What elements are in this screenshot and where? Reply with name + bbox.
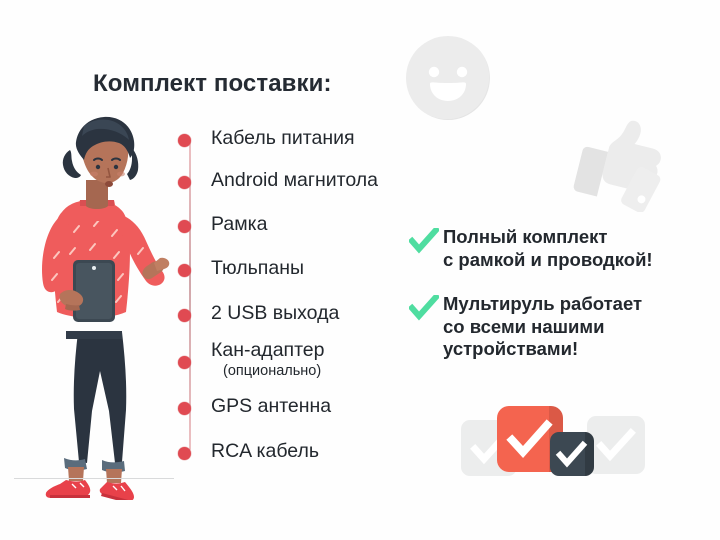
benefit-text: Полный комплект с рамкой и проводкой!: [443, 226, 653, 271]
thumbs-up-icon: [572, 112, 676, 212]
bullet-dot: [178, 134, 191, 147]
slide-canvas: Комплект поставки: Кабель питания Androi…: [0, 0, 720, 540]
check-icon: [409, 295, 439, 321]
list-item: Android магнитола: [178, 170, 378, 192]
list-item-label: GPS антенна: [211, 396, 331, 418]
benefit-item: Полный комплект с рамкой и проводкой!: [409, 226, 699, 271]
list-item: RCA кабель: [178, 441, 319, 463]
woman-pointing-illustration: [14, 108, 182, 500]
list-item: Кабель питания: [178, 128, 355, 150]
checkbox-card-gray-right: [587, 416, 645, 474]
benefit-text: Мультируль работает со всеми нашими устр…: [443, 293, 642, 361]
list-item-label: Тюльпаны: [211, 258, 304, 280]
list-item: Тюльпаны: [178, 258, 304, 280]
bullet-dot: [178, 309, 191, 322]
list-item-label: Кабель питания: [211, 128, 355, 150]
benefits-list: Полный комплект с рамкой и проводкой! Му…: [409, 226, 699, 379]
check-icon: [409, 228, 439, 254]
list-item-note: (опционально): [223, 363, 325, 379]
avito-wordmark: Avito: [645, 502, 694, 524]
list-item: Кан-адаптер (опционально): [178, 340, 325, 379]
list-item-label: Рамка: [211, 214, 267, 236]
list-item-label: Кан-адаптер (опционально): [211, 340, 325, 379]
bullet-dot: [178, 447, 191, 460]
list-item: Рамка: [178, 214, 267, 236]
smiley-face-icon: [402, 32, 494, 124]
list-item-label: Android магнитола: [211, 170, 378, 192]
checkbox-cards-icon: [455, 400, 645, 490]
checkbox-card-dark: [550, 432, 594, 476]
bullet-dot: [178, 356, 191, 369]
page-title: Комплект поставки:: [93, 70, 332, 98]
bullet-dot: [178, 220, 191, 233]
bullet-dot: [178, 264, 191, 277]
list-item: 2 USB выхода: [178, 303, 339, 325]
list-item: GPS антенна: [178, 396, 331, 418]
avito-watermark: Avito: [618, 498, 704, 524]
ground-line: [14, 478, 174, 479]
list-item-label: RCA кабель: [211, 441, 319, 463]
bullet-dot: [178, 402, 191, 415]
benefit-item: Мультируль работает со всеми нашими устр…: [409, 293, 699, 361]
list-item-label: 2 USB выхода: [211, 303, 339, 325]
bullet-dot: [178, 176, 191, 189]
list-item-label-main: Кан-адаптер: [211, 339, 325, 361]
